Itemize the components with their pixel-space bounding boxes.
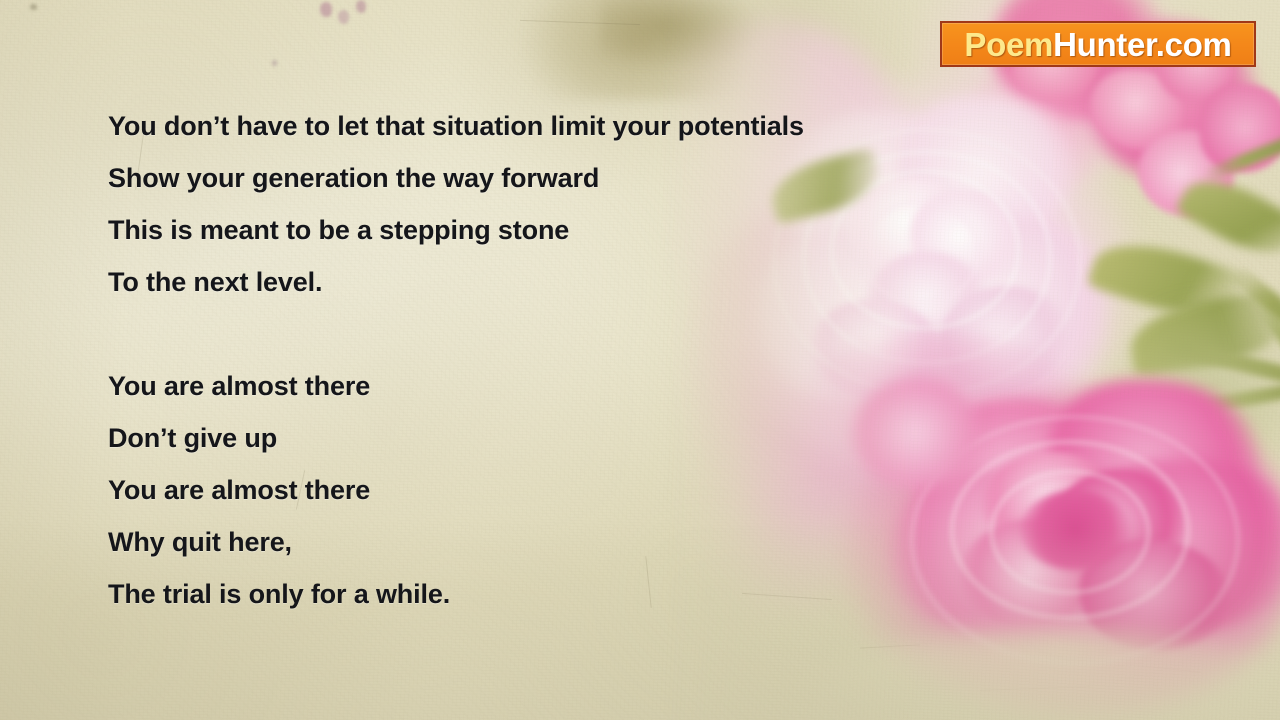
poem-line: Don’t give up bbox=[108, 412, 968, 464]
poem-line: You are almost there bbox=[108, 360, 968, 412]
poem-line: You don’t have to let that situation lim… bbox=[108, 100, 968, 152]
poem-line: This is meant to be a stepping stone bbox=[108, 204, 968, 256]
poem-stanza: You don’t have to let that situation lim… bbox=[108, 100, 968, 308]
poemhunter-logo-badge[interactable]: PoemHunter.com bbox=[940, 21, 1256, 67]
poem-text-block: You don’t have to let that situation lim… bbox=[108, 100, 968, 620]
poem-line: The trial is only for a while. bbox=[108, 568, 968, 620]
poem-line: Why quit here, bbox=[108, 516, 968, 568]
poemhunter-logo-text: PoemHunter.com bbox=[964, 28, 1231, 61]
poem-line: You are almost there bbox=[108, 464, 968, 516]
poem-line: To the next level. bbox=[108, 256, 968, 308]
poem-stanza: You are almost there Don’t give up You a… bbox=[108, 360, 968, 620]
logo-text-huntercom: Hunter.com bbox=[1053, 26, 1232, 63]
poem-line: Show your generation the way forward bbox=[108, 152, 968, 204]
poem-image-canvas: PoemHunter.com You don’t have to let tha… bbox=[0, 0, 1280, 720]
logo-text-poem: Poem bbox=[964, 26, 1053, 63]
